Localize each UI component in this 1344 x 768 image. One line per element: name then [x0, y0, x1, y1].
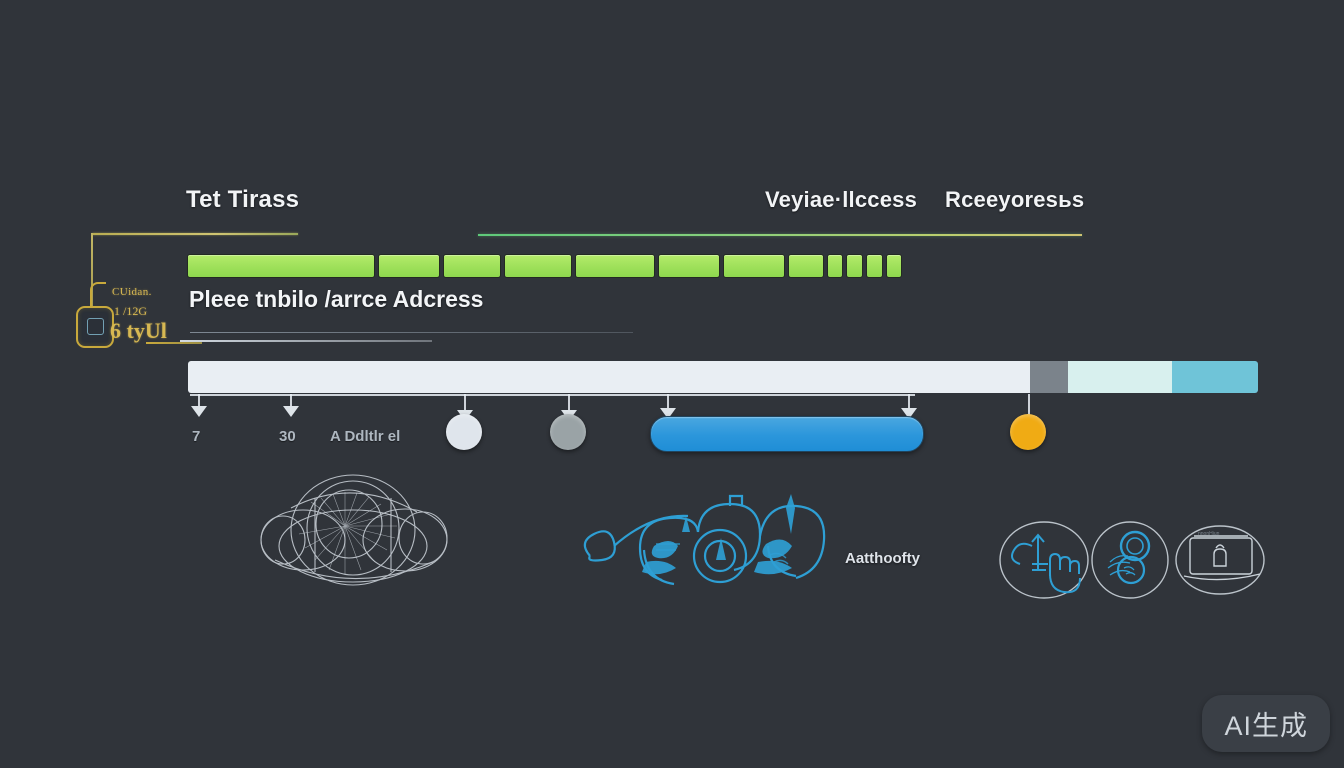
green-segment[interactable] [788, 254, 824, 278]
progress-segment-mint[interactable] [1068, 361, 1172, 393]
heading-right: Rceeyoresьs [945, 187, 1084, 213]
rule-left [92, 233, 298, 235]
ai-watermark: AI生成 [1202, 695, 1330, 752]
marker-dot-gray[interactable] [550, 414, 586, 450]
subtitle: Pleee tnbilo /arrce Adcress [189, 286, 483, 313]
gold-line-2: 1 /12G [114, 304, 147, 319]
abstract-circles-artwork [245, 468, 465, 603]
tick-dot-gray-stem [568, 394, 570, 410]
marker-dot-amber[interactable] [1010, 414, 1046, 450]
divider-upper [190, 332, 633, 333]
green-segment[interactable] [443, 254, 501, 278]
tick-pill-left-stem [667, 394, 669, 408]
right-icon-row: nnonHiun [998, 518, 1266, 607]
green-segment[interactable] [723, 254, 785, 278]
pointer-badge-icon [1012, 535, 1080, 592]
heading-left: Tet Tirass [186, 186, 299, 214]
green-segment[interactable] [187, 254, 375, 278]
green-segment[interactable] [866, 254, 883, 278]
canvas: Tet Tirass Veyiae·llccess Rceeyoresьs CU… [0, 0, 1344, 768]
gold-annotation: CUidan. 1 /12G 6 tyUl [70, 272, 190, 360]
progress-segment-dark-gray[interactable] [1030, 361, 1068, 393]
green-segment[interactable] [658, 254, 720, 278]
monitor-badge-icon [1184, 536, 1260, 580]
progress-segment-teal[interactable] [1172, 361, 1258, 393]
tick-7-label: 7 [192, 428, 200, 445]
rule-right [478, 234, 1082, 236]
abstract-blue-network-artwork [570, 488, 840, 603]
green-segmented-bar[interactable] [187, 254, 902, 278]
authority-label: Aatthoofty [845, 550, 920, 567]
range-pill[interactable] [650, 416, 924, 452]
green-segment[interactable] [378, 254, 440, 278]
tick-detail-label: A Ddltlr el [330, 428, 400, 445]
green-segment[interactable] [886, 254, 902, 278]
tick-30-label: 30 [279, 428, 296, 445]
tick-pill-right-stem [908, 394, 910, 408]
tick-7-stem [198, 394, 200, 406]
tick-7-arrow [191, 406, 207, 417]
progress-segment-light[interactable] [188, 361, 1030, 393]
tick-30-stem [290, 394, 292, 406]
green-segment[interactable] [504, 254, 572, 278]
green-segment[interactable] [575, 254, 655, 278]
green-segment[interactable] [846, 254, 863, 278]
gold-line-1: CUidan. [112, 286, 152, 298]
tick-dot-amber-stem [1028, 394, 1030, 416]
tick-dot-light-stem [464, 394, 466, 410]
divider-lower [180, 340, 432, 342]
fingerprint-badge-icon [1108, 532, 1149, 583]
gold-underline [146, 342, 202, 344]
green-segment[interactable] [827, 254, 843, 278]
gold-line-3: 6 tyUl [110, 318, 167, 344]
marker-dot-light[interactable] [446, 414, 482, 450]
tick-rail [190, 394, 915, 396]
tick-30-arrow [283, 406, 299, 417]
progress-bar[interactable] [188, 361, 1258, 393]
folder-icon[interactable] [76, 306, 114, 348]
svg-text:nnonHiun: nnonHiun [1198, 531, 1220, 537]
heading-middle: Veyiae·llccess [765, 187, 917, 213]
